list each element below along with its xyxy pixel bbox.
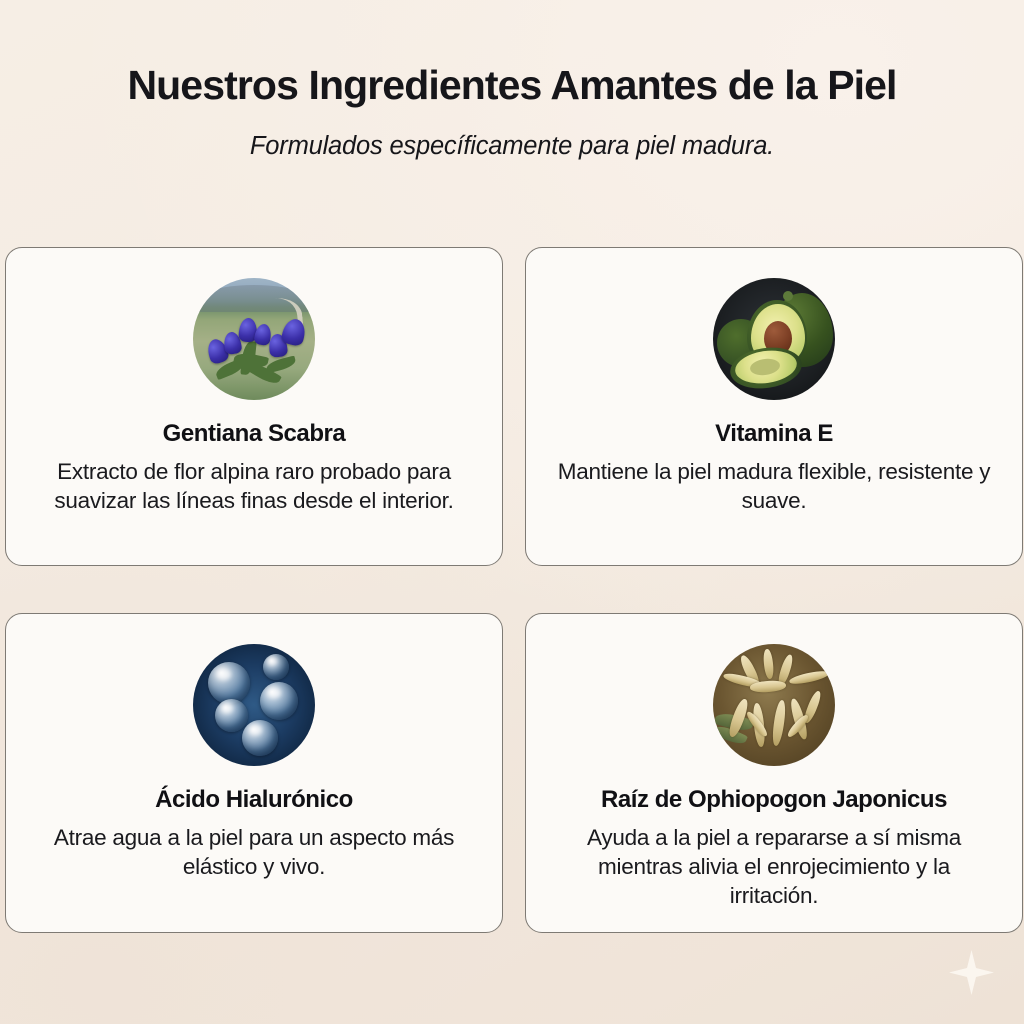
root-strand — [788, 669, 829, 686]
ingredient-description: Mantiene la piel madura flexible, resist… — [554, 457, 994, 516]
molecule-sphere — [208, 662, 250, 704]
avocado-stem — [783, 291, 793, 301]
ingredient-card-gentiana-scabra[interactable]: Gentiana Scabra Extracto de flor alpina … — [5, 247, 503, 566]
ingredient-card-ophiopogon-japonicus[interactable]: Raíz de Ophiopogon Japonicus Ayuda a la … — [525, 613, 1023, 933]
page-header: Nuestros Ingredientes Amantes de la Piel… — [0, 0, 1024, 161]
leaf-shape — [265, 355, 297, 373]
page-subtitle: Formulados específicamente para piel mad… — [0, 132, 1024, 161]
ingredient-description: Extracto de flor alpina raro probado par… — [34, 457, 474, 516]
root-strand — [763, 648, 775, 679]
molecule-sphere — [215, 699, 248, 732]
hyaluronic-acid-molecules-image — [193, 644, 315, 766]
ingredient-name: Ácido Hialurónico — [155, 786, 353, 815]
ingredient-card-vitamina-e[interactable]: Vitamina E Mantiene la piel madura flexi… — [525, 247, 1023, 566]
ingredient-card-grid: Gentiana Scabra Extracto de flor alpina … — [5, 247, 1019, 933]
vitamin-e-avocado-image — [713, 278, 835, 400]
ingredient-card-acido-hialuronico[interactable]: Ácido Hialurónico Atrae agua a la piel p… — [5, 613, 503, 933]
root-strand — [771, 700, 787, 747]
ingredient-name: Raíz de Ophiopogon Japonicus — [601, 786, 947, 815]
ingredient-name: Vitamina E — [715, 420, 833, 449]
molecule-sphere — [263, 654, 289, 680]
molecule-sphere — [260, 682, 298, 720]
ingredient-description: Ayuda a la piel a repararse a sí misma m… — [554, 823, 994, 911]
molecule-sphere — [242, 720, 278, 756]
sparkle-star-icon — [949, 950, 994, 995]
ingredient-description: Atrae agua a la piel para un aspecto más… — [34, 823, 474, 882]
ophiopogon-japonicus-root-image — [713, 644, 835, 766]
ingredient-name: Gentiana Scabra — [163, 420, 346, 449]
gentiana-scabra-flower-image — [193, 278, 315, 400]
page-title: Nuestros Ingredientes Amantes de la Piel — [0, 62, 1024, 110]
